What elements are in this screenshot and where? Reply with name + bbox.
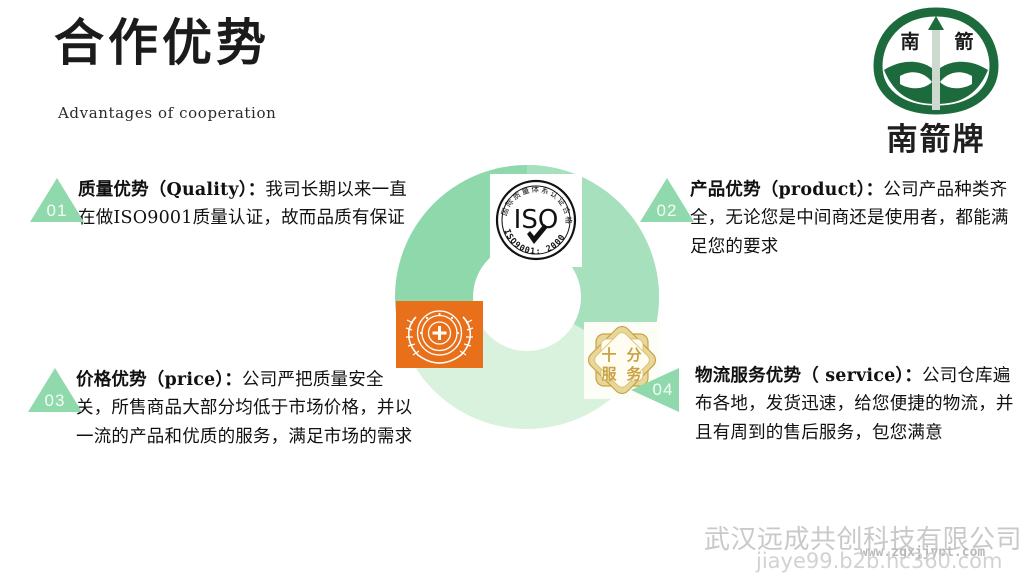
advantage-lead-04: 物流服务优势（ service）：	[695, 366, 922, 386]
advantage-lead-02: 产品优势（product）：	[690, 180, 883, 200]
advantage-lead-03: 价格优势（price）：	[76, 370, 242, 390]
advantage-number-02: 02	[640, 201, 694, 221]
logo-inner-right: 箭	[954, 30, 973, 53]
advantage-item-02: 02 产品优势（product）：公司产品种类齐全，无论您是中间商还是使用者，都…	[638, 176, 1018, 261]
advantage-body-04: 物流服务优势（ service）：公司仓库遍布各地，发货迅速，给您便捷的物流，并…	[695, 362, 1015, 447]
page-subtitle: Advantages of cooperation	[58, 104, 276, 122]
iso-certification-badge: 国际质量体系认证合格 ISO9001: 2000 ISO	[490, 174, 582, 267]
advantage-body-03: 价格优势（price）：公司严把质量安全关，所售商品大部分均低于市场价格，并以一…	[76, 366, 416, 451]
advantage-number-04: 04	[639, 380, 687, 400]
logo-inner-left: 南	[900, 31, 919, 53]
advantage-number-01: 01	[30, 201, 84, 221]
company-logo: 南 箭 南箭牌	[866, 6, 1006, 156]
svg-text:十: 十	[601, 346, 616, 364]
advantage-item-01: 01 质量优势（Quality）：我司长期以来一直在做ISO9001质量认证，故…	[28, 176, 428, 233]
advantage-body-01: 质量优势（Quality）：我司长期以来一直在做ISO9001质量认证，故而品质…	[78, 176, 423, 233]
slide-canvas: 合作优势 Advantages of cooperation 南 箭 南箭牌	[0, 0, 1024, 576]
nanjian-tree-emblem-icon: 南 箭	[866, 6, 1006, 121]
logo-wordmark: 南箭牌	[866, 114, 1006, 159]
advantage-item-03: 03 价格优势（price）：公司严把质量安全关，所售商品大部分均低于市场价格，…	[24, 366, 434, 451]
svg-text:服: 服	[601, 365, 617, 383]
watermark-company: 武汉远成共创科技有限公司	[704, 519, 1022, 556]
advantage-item-04: 04 物流服务优势（ service）：公司仓库遍布各地，发货迅速，给您便捷的物…	[625, 362, 1020, 447]
quality-seal-badge	[396, 301, 483, 368]
page-title: 合作优势	[54, 14, 270, 72]
advantage-lead-01: 质量优势（Quality）：	[78, 180, 265, 200]
watermark-url: www.zgxjjypt.com	[860, 545, 985, 560]
advantage-body-02: 产品优势（product）：公司产品种类齐全，无论您是中间商还是使用者，都能满足…	[690, 176, 1015, 261]
watermark-b2b-url: jiaye99.b2b.hc360.com	[756, 549, 1002, 573]
advantage-number-03: 03	[28, 391, 82, 411]
iso-badge-text: ISO	[514, 205, 559, 235]
